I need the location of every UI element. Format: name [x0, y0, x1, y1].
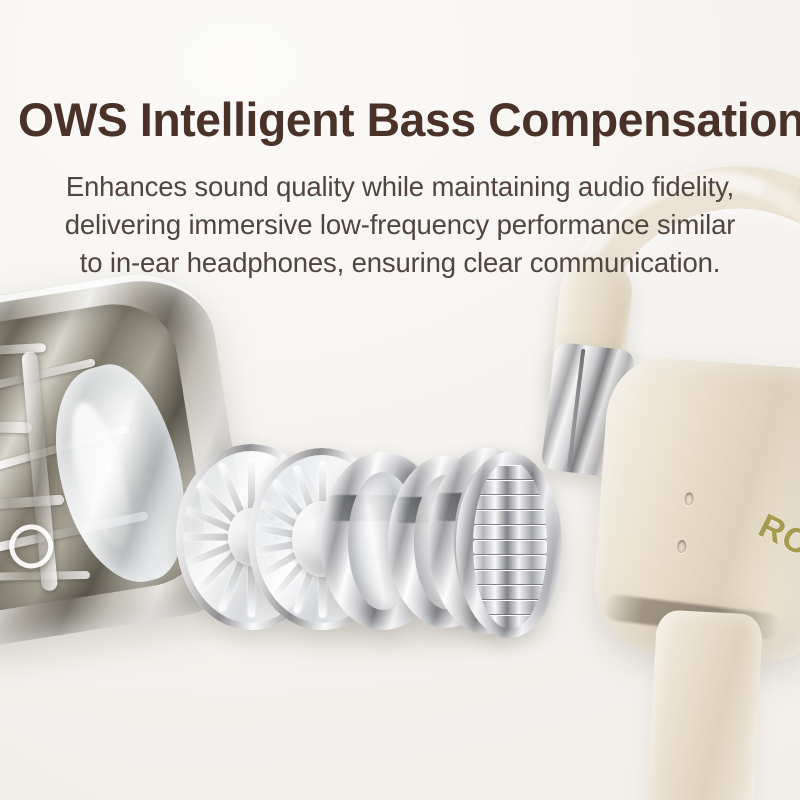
page-title: OWS Intelligent Bass Compensation: [18, 96, 776, 143]
subtitle-line-2: delivering immersive low-frequency perfo…: [0, 206, 800, 244]
subtitle-line-3: to in-ear headphones, ensuring clear com…: [0, 244, 800, 282]
page-subtitle: Enhances sound quality while maintaining…: [0, 168, 800, 282]
subtitle-line-1: Enhances sound quality while maintaining…: [0, 168, 800, 206]
product-marketing-banner: ROC OWS Intelligent Bass Compensation En…: [0, 0, 800, 800]
